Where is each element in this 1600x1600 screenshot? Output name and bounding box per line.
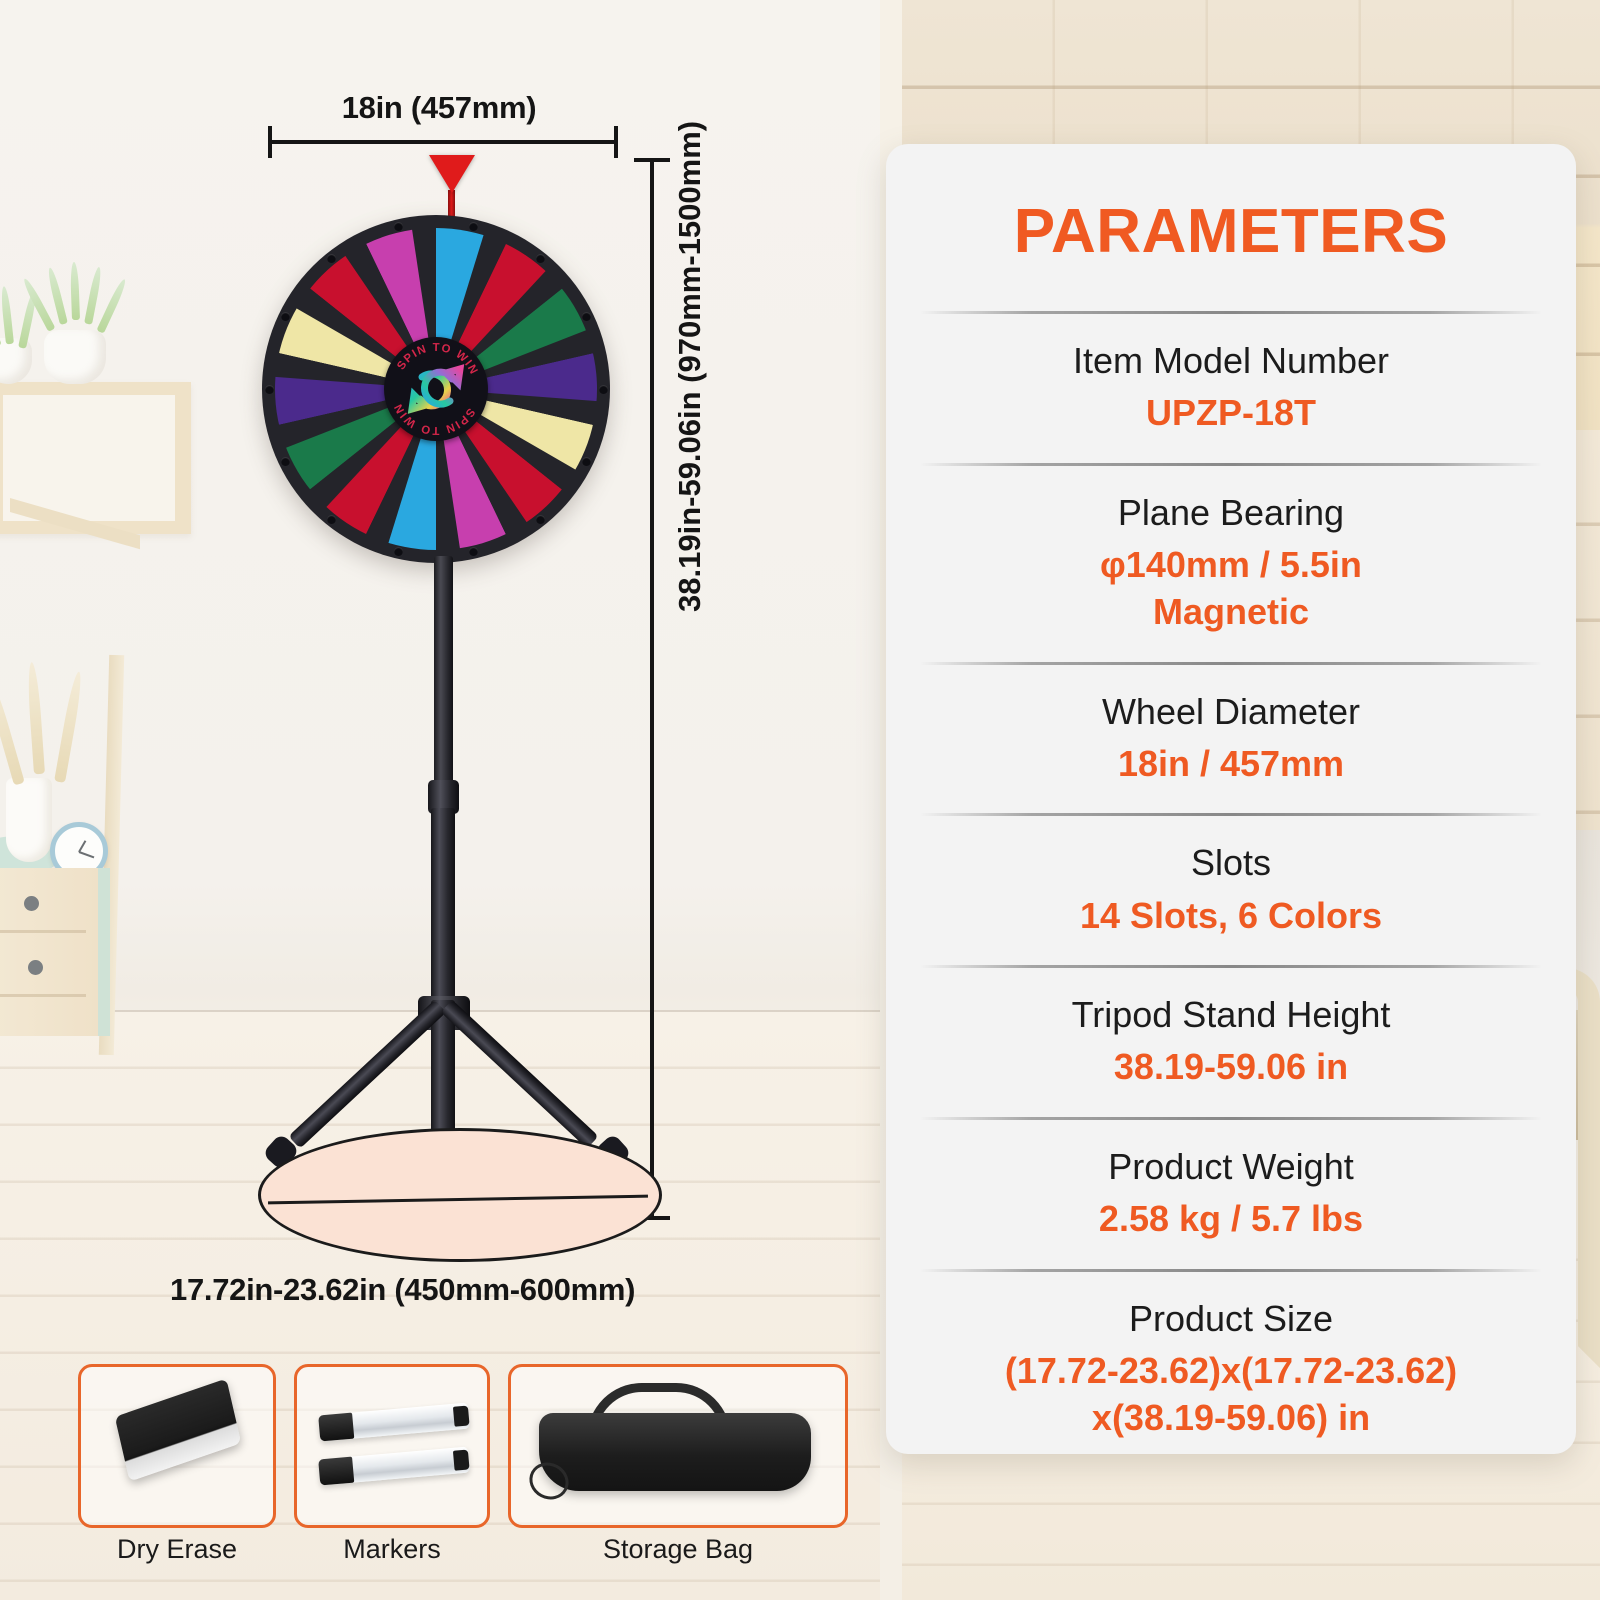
pampas-stem	[0, 675, 25, 786]
parameter-label: Tripod Stand Height	[918, 992, 1544, 1038]
accessory-card[interactable]	[508, 1364, 848, 1528]
accessory-caption: Markers	[294, 1534, 490, 1565]
wheel-rim-screw	[599, 385, 608, 394]
parameter-label: Product Size	[918, 1296, 1544, 1342]
decor-vase	[6, 778, 52, 862]
stand-pole-upper	[434, 556, 453, 804]
bag-icon	[539, 1413, 811, 1491]
parameter-label: Slots	[918, 840, 1544, 886]
dimension-label-wheel-width: 18in (457mm)	[265, 90, 613, 126]
stand-pole-lower	[431, 808, 455, 1004]
plant-leaf	[84, 266, 103, 324]
pampas-stem	[54, 671, 84, 783]
wheel-rim-screw	[281, 312, 290, 321]
wheel-rim-screw	[582, 312, 591, 321]
parameter-row: Plane Bearingφ140mm / 5.5inMagnetic	[912, 466, 1550, 662]
nightstand	[0, 868, 110, 1036]
accessory-card[interactable]	[294, 1364, 490, 1528]
dimension-cap-left	[268, 126, 272, 158]
drawer-knob	[24, 896, 39, 911]
drawer-divider	[0, 994, 86, 997]
wheel-rim-screw	[265, 385, 274, 394]
dimension-cap-right	[614, 126, 618, 158]
wheel-pointer-icon	[429, 155, 475, 193]
plant-pot-small	[0, 338, 32, 384]
prize-wheel: SPIN TO WIN SPIN TO WIN	[262, 215, 610, 563]
wheel-rim-screw	[394, 222, 403, 231]
dimension-label-base-width: 17.72in-23.62in (450mm-600mm)	[170, 1272, 635, 1308]
parameter-value: φ140mm / 5.5inMagnetic	[918, 542, 1544, 636]
wheel-rim-screw	[469, 222, 478, 231]
pampas-stem	[26, 662, 45, 774]
parameter-row: Product Weight2.58 kg / 5.7 lbs	[912, 1120, 1550, 1269]
wheel-rim-screw	[281, 457, 290, 466]
page-title: PARAMETERS	[912, 144, 1550, 311]
parameter-row: Tripod Stand Height38.19-59.06 in	[912, 968, 1550, 1117]
parameters-list: Item Model NumberUPZP-18TPlane Bearingφ1…	[912, 311, 1550, 1454]
plant-leaf	[70, 262, 80, 320]
parameter-row: Slots14 Slots, 6 Colors	[912, 816, 1550, 965]
plant-pot-large	[44, 330, 106, 384]
dimension-line-height	[650, 158, 654, 1220]
plant-leaf	[96, 278, 128, 334]
accessory-dry-erase: Dry Erase	[78, 1364, 276, 1528]
dimension-cap-top	[634, 158, 670, 162]
eraser-icon	[115, 1378, 241, 1481]
parameter-label: Item Model Number	[918, 338, 1544, 384]
marker-icon	[318, 1447, 470, 1486]
drawer-divider	[0, 930, 86, 933]
parameter-value: 2.58 kg / 5.7 lbs	[918, 1196, 1544, 1243]
parameter-row: Item Model NumberUPZP-18T	[912, 314, 1550, 463]
parameters-panel: PARAMETERS Item Model NumberUPZP-18TPlan…	[886, 144, 1576, 1454]
wheel-rim-screw	[582, 457, 591, 466]
dimension-label-stand-height: 38.19in-59.06in (970mm-1500mm)	[672, 121, 708, 612]
parameter-value: 38.19-59.06 in	[918, 1044, 1544, 1091]
drawer-knob	[28, 960, 43, 975]
accessories-row: Dry Erase Markers Storage Bag	[78, 1364, 848, 1528]
parameter-value: 18in / 457mm	[918, 741, 1544, 788]
marker-icon	[318, 1403, 470, 1442]
wheel-rim-screw	[469, 547, 478, 556]
accessory-card[interactable]	[78, 1364, 276, 1528]
parameter-label: Plane Bearing	[918, 490, 1544, 536]
parameter-label: Wheel Diameter	[918, 689, 1544, 735]
parameter-value: UPZP-18T	[918, 390, 1544, 437]
parameter-row: Wheel Diameter18in / 457mm	[912, 665, 1550, 814]
accessory-caption: Storage Bag	[508, 1534, 848, 1565]
dimension-line-top	[268, 140, 618, 144]
wheel-rim-screw	[536, 254, 545, 263]
plant-leaf	[0, 286, 14, 345]
parameter-value: (17.72-23.62)x(17.72-23.62)x(38.19-59.06…	[918, 1348, 1544, 1442]
wheel-hub: SPIN TO WIN SPIN TO WIN	[384, 337, 488, 441]
accessory-caption: Dry Erase	[78, 1534, 276, 1565]
wheel-rim-screw	[536, 515, 545, 524]
product-spec-image: 18in (457mm) 38.19in-59.06in (970mm-1500…	[0, 0, 1600, 1600]
accessory-storage-bag: Storage Bag	[508, 1364, 848, 1528]
parameter-value: 14 Slots, 6 Colors	[918, 893, 1544, 940]
parameter-row: Product Size(17.72-23.62)x(17.72-23.62)x…	[912, 1272, 1550, 1454]
accessory-markers: Markers	[294, 1364, 490, 1528]
parameter-label: Product Weight	[918, 1144, 1544, 1190]
